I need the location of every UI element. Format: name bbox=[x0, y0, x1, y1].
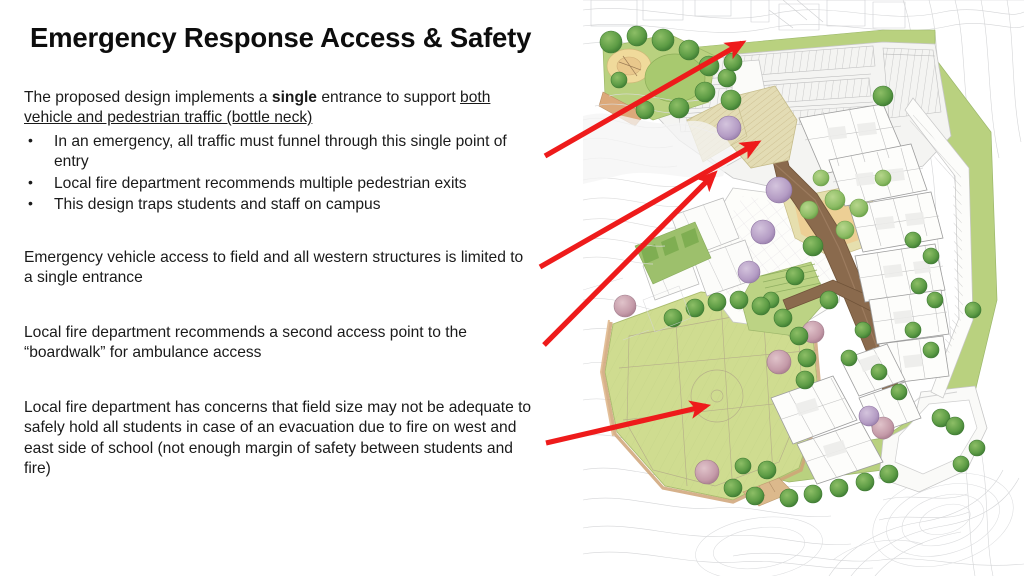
lead-paragraph: The proposed design implements a single … bbox=[24, 88, 536, 129]
list-item: • Local fire department recommends multi… bbox=[26, 174, 538, 194]
page-title: Emergency Response Access & Safety bbox=[30, 22, 560, 54]
concern-bullet-list: • In an emergency, all traffic must funn… bbox=[26, 132, 538, 216]
slide-text-column: Emergency Response Access & Safety The p… bbox=[0, 0, 583, 576]
list-item: • In an emergency, all traffic must funn… bbox=[26, 132, 538, 173]
bullet-icon: • bbox=[28, 131, 33, 149]
lead-text-part1: The proposed design implements a bbox=[24, 89, 272, 106]
paragraph-second-access-point: Local fire department recommends a secon… bbox=[24, 323, 536, 364]
bullet-icon: • bbox=[28, 194, 33, 212]
bullet-icon: • bbox=[28, 173, 33, 191]
list-item: • This design traps students and staff o… bbox=[26, 195, 538, 215]
site-plan-drawing bbox=[583, 0, 1024, 576]
campus-site-plan-image bbox=[583, 0, 1024, 576]
lead-text-part2: entrance to support bbox=[317, 89, 460, 106]
list-item-label: Local fire department recommends multipl… bbox=[54, 175, 467, 192]
list-item-label: This design traps students and staff on … bbox=[54, 196, 381, 213]
paragraph-emergency-vehicle-access: Emergency vehicle access to field and al… bbox=[24, 248, 536, 289]
paragraph-field-size-concern: Local fire department has concerns that … bbox=[24, 398, 536, 479]
presentation-slide: Emergency Response Access & Safety The p… bbox=[0, 0, 1024, 576]
lead-emphasis-single: single bbox=[272, 89, 317, 106]
list-item-label: In an emergency, all traffic must funnel… bbox=[54, 133, 507, 170]
